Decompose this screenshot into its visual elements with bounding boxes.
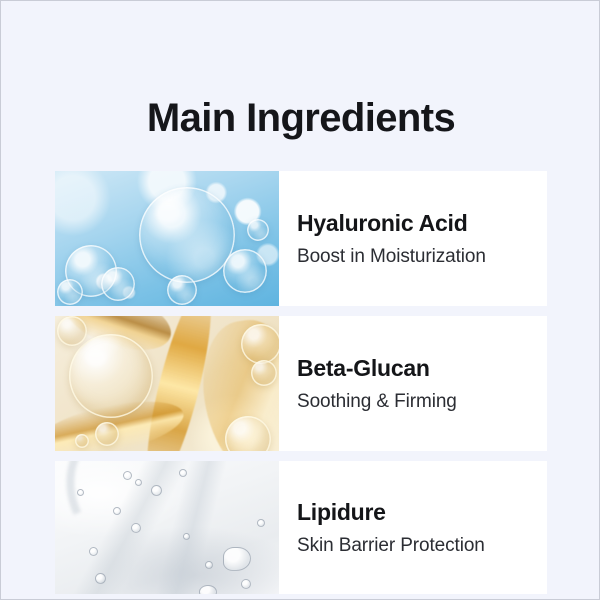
gel-bubble-shape xyxy=(241,579,251,589)
gel-bubble-shape xyxy=(135,479,142,486)
ingredient-image-clear-gel xyxy=(55,461,279,594)
ingredient-image-golden-oil xyxy=(55,316,279,451)
ingredient-text-block: Lipidure Skin Barrier Protection xyxy=(279,461,547,594)
bubble-shape xyxy=(101,267,135,301)
ingredients-infographic: Main Ingredients Hyaluronic Acid Boost i… xyxy=(0,0,600,600)
ingredient-text-block: Hyaluronic Acid Boost in Moisturization xyxy=(279,171,547,306)
ingredient-card-lipidure[interactable]: Lipidure Skin Barrier Protection xyxy=(55,461,547,594)
gel-bubble-shape xyxy=(113,507,121,515)
bubble-shape xyxy=(139,187,235,283)
bubble-shape xyxy=(57,279,83,305)
gel-bubble-shape xyxy=(151,485,162,496)
bubble-shape xyxy=(247,219,269,241)
gel-bubble-shape xyxy=(95,573,106,584)
oil-droplet-shape xyxy=(251,360,277,386)
gel-bubble-shape xyxy=(77,489,84,496)
bubble-shape xyxy=(223,249,267,293)
ingredient-card-hyaluronic-acid[interactable]: Hyaluronic Acid Boost in Moisturization xyxy=(55,171,547,306)
ingredient-description: Boost in Moisturization xyxy=(297,245,547,269)
gel-bubble-shape xyxy=(123,471,132,480)
oil-droplet-shape xyxy=(75,434,89,448)
gel-bubble-shape xyxy=(199,585,217,594)
gel-bubble-shape xyxy=(205,561,213,569)
ingredient-card-beta-glucan[interactable]: Beta-Glucan Soothing & Firming xyxy=(55,316,547,451)
page-title-container: Main Ingredients xyxy=(1,67,600,169)
gel-bubble-shape xyxy=(131,523,141,533)
ingredient-description: Skin Barrier Protection xyxy=(297,534,547,558)
gel-bubble-shape xyxy=(89,547,98,556)
ingredient-image-blue-bubbles xyxy=(55,171,279,306)
page-title: Main Ingredients xyxy=(147,94,455,142)
oil-droplet-shape xyxy=(69,334,153,418)
ingredient-name: Beta-Glucan xyxy=(297,354,547,382)
gel-bubble-shape xyxy=(183,533,190,540)
oil-droplet-shape xyxy=(95,422,119,446)
ingredient-card-list: Hyaluronic Acid Boost in Moisturization … xyxy=(55,171,547,594)
gel-bubble-shape xyxy=(179,469,187,477)
oil-droplet-shape xyxy=(241,324,279,364)
oil-droplet-shape xyxy=(57,316,87,346)
ingredient-name: Lipidure xyxy=(297,498,547,526)
ingredient-name: Hyaluronic Acid xyxy=(297,209,547,237)
bubble-shape xyxy=(167,275,197,305)
ingredient-description: Soothing & Firming xyxy=(297,390,547,414)
gel-bubble-shape xyxy=(257,519,265,527)
ingredient-text-block: Beta-Glucan Soothing & Firming xyxy=(279,316,547,451)
